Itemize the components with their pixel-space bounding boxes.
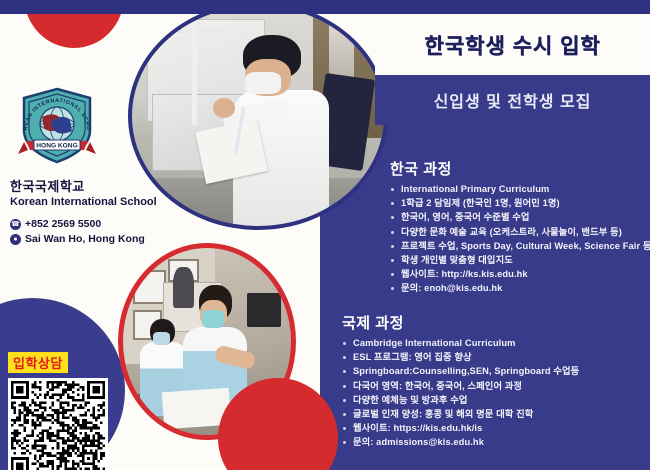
korean-course-list: International Primary Curriculum 1학급 2 담… [388,184,646,294]
admissions-poster: 한국학생 수시 입학 신입생 및 전학생 모집 KOREAN INTERN [0,0,650,470]
list-item: Cambridge International Curriculum [340,338,646,349]
qr-code-icon[interactable] [8,378,108,470]
international-course-list: Cambridge International Curriculum ESL 프… [340,338,646,448]
location-pin-icon: ● [10,234,21,245]
phone-icon: ☎ [10,219,21,230]
list-item: International Primary Curriculum [388,184,646,195]
poster-subtitle-band: 신입생 및 전학생 모집 [375,75,650,125]
list-item: Springboard:Counselling,SEN, Springboard… [340,366,646,377]
kis-shield-logo: KOREAN INTERNATIONAL SCHOOL HONG KONG [14,86,100,170]
list-item: 학생 개인별 맞춤형 대입지도 [388,255,646,266]
qr-block: 입학상담 [8,352,108,470]
list-item[interactable]: 웹사이트: http://ks.kis.edu.hk [388,269,646,280]
top-accent-strip [0,0,650,14]
contact-list: ☎ +852 2569 5500 ● Sai Wan Ho, Hong Kong [10,218,176,245]
contact-address-text: Sai Wan Ho, Hong Kong [25,233,145,245]
school-name-en: Korean International School [10,196,176,208]
qr-code-canvas [11,381,105,470]
list-item: 글로벌 인재 양성: 홍콩 및 해외 명문 대학 진학 [340,409,646,420]
contact-phone[interactable]: ☎ +852 2569 5500 [10,218,176,230]
page-title: 한국학생 수시 입학 [424,30,600,60]
svg-text:HONG KONG: HONG KONG [36,142,77,149]
list-item[interactable]: 웹사이트: https://kis.edu.hk/is [340,423,646,434]
list-item: 다국어 영역: 한국어, 중국어, 스페인어 과정 [340,381,646,392]
international-course-title: 국제 과정 [342,312,646,333]
contact-phone-text: +852 2569 5500 [25,218,101,230]
school-name-kr: 한국국제학교 [10,176,176,195]
international-course-section: 국제 과정 Cambridge International Curriculum… [340,312,646,452]
brand-block: KOREAN INTERNATIONAL SCHOOL HONG KONG 한국… [6,86,176,248]
list-item: 한국어, 영어, 중국어 수준별 수업 [388,212,646,223]
page-subtitle: 신입생 및 전학생 모집 [434,88,592,112]
list-item[interactable]: 문의: admissions@kis.edu.hk [340,437,646,448]
list-item: 다양한 문화 예술 교육 (오케스트라, 사물놀이, 밴드부 등) [388,227,646,238]
list-item: ESL 프로그램: 영어 집중 향상 [340,352,646,363]
korean-course-title: 한국 과정 [390,158,646,179]
korean-course-section: 한국 과정 International Primary Curriculum 1… [388,158,646,298]
list-item: 다양한 예체능 및 방과후 수업 [340,395,646,406]
status-badge: 입학상담 [8,352,68,373]
list-item[interactable]: 문의: enoh@kis.edu.hk [388,283,646,294]
list-item: 프로젝트 수업, Sports Day, Cultural Week, Scie… [388,241,646,252]
contact-address[interactable]: ● Sai Wan Ho, Hong Kong [10,233,176,245]
list-item: 1학급 2 담임제 (한국인 1명, 원어민 1명) [388,198,646,209]
poster-title-band: 한국학생 수시 입학 [375,14,650,75]
